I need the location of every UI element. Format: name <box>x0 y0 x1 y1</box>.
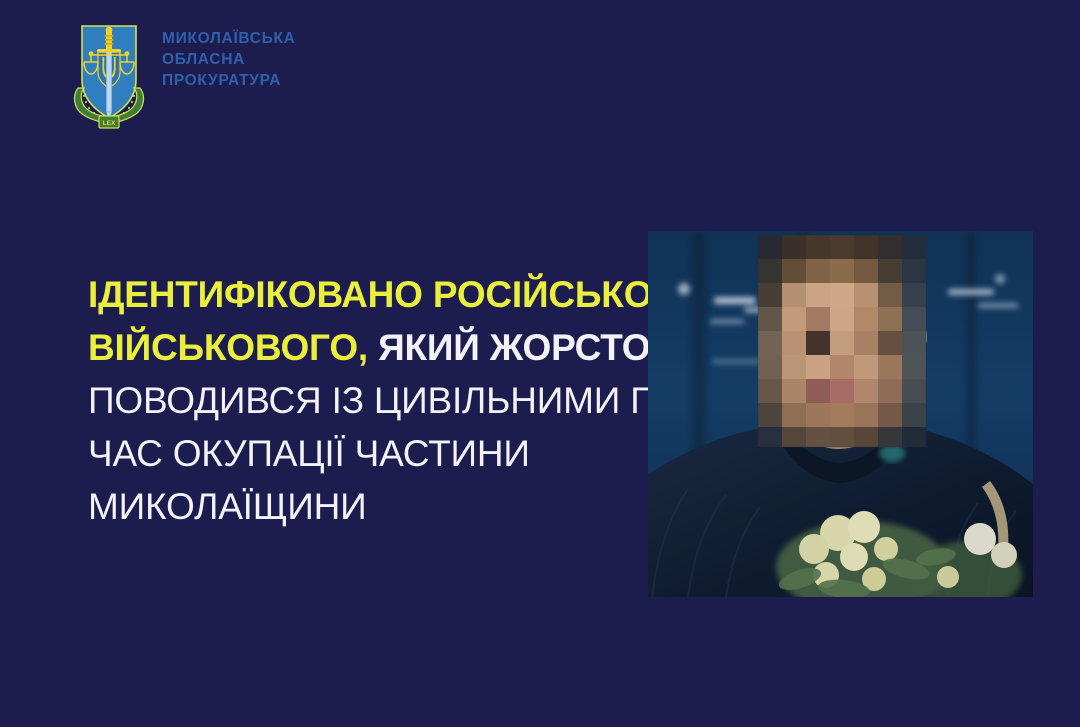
news-card: LEX МИКОЛАЇВСЬКА ОБЛАСНА ПРОКУРАТУРА ІДЕ… <box>0 0 1080 727</box>
headline-line-1: ІДЕНТИФІКОВАНО РОСІЙСЬКОГО <box>88 268 628 321</box>
emblem-motto-text: LEX <box>103 120 116 127</box>
headline: ІДЕНТИФІКОВАНО РОСІЙСЬКОГО ВІЙСЬКОВОГО, … <box>88 268 628 533</box>
brand-line-3: ПРОКУРАТУРА <box>162 72 296 91</box>
brand-header: LEX МИКОЛАЇВСЬКА ОБЛАСНА ПРОКУРАТУРА <box>70 22 296 134</box>
brand-line-2: ОБЛАСНА <box>162 51 296 70</box>
headline-highlight-2: ВІЙСЬКОВОГО, <box>88 327 368 368</box>
headline-line-2: ВІЙСЬКОВОГО, ЯКИЙ ЖОРСТОКО <box>88 321 628 374</box>
brand-name: МИКОЛАЇВСЬКА ОБЛАСНА ПРОКУРАТУРА <box>162 30 296 91</box>
headline-highlight-1: ІДЕНТИФІКОВАНО РОСІЙСЬКОГО <box>88 274 701 315</box>
brand-line-1: МИКОЛАЇВСЬКА <box>162 30 296 49</box>
headline-line-5: МИКОЛАЇЩИНИ <box>88 480 628 533</box>
headline-line-4: ЧАС ОКУПАЦІЇ ЧАСТИНИ <box>88 427 628 480</box>
headline-line-3: ПОВОДИВСЯ ІЗ ЦИВІЛЬНИМИ ПІД <box>88 374 628 427</box>
suspect-photo <box>648 231 1033 597</box>
prosecutor-office-coat-of-arms-icon: LEX <box>70 22 148 134</box>
